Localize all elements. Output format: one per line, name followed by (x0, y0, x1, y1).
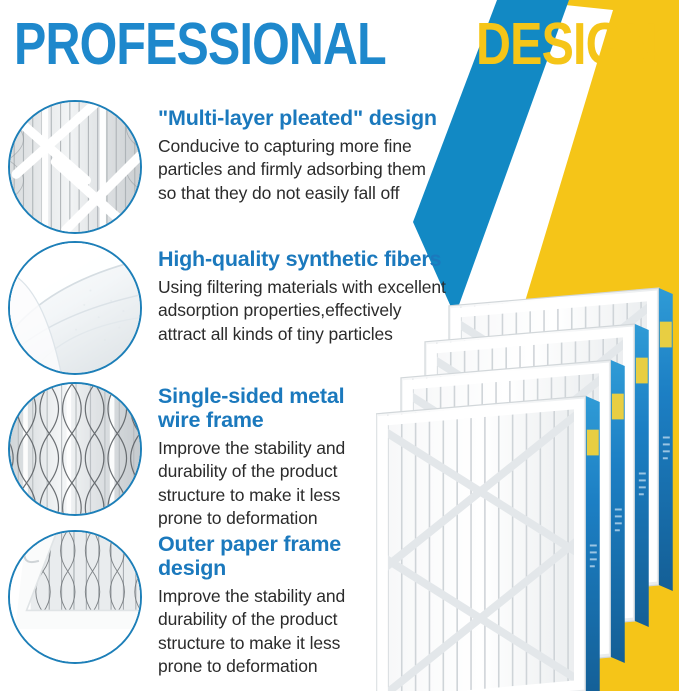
title-word-design: DESIGN (476, 15, 657, 74)
feature-text-block: Single-sided metal wire frame Improve th… (158, 382, 345, 530)
feature-body: Improve the stability and durability of … (158, 437, 345, 530)
feature-heading: "Multi-layer pleated" design (158, 106, 437, 130)
product-infographic-poster: PROFESSIONAL DESIGN (0, 0, 679, 691)
feature-body: Improve the stability and durability of … (158, 585, 345, 678)
feature-text-block: "Multi-layer pleated" design Conducive t… (158, 100, 437, 205)
metal-wire-mesh-thumbnail (8, 382, 142, 516)
synthetic-fiber-fabric-thumbnail (8, 241, 142, 375)
feature-row-outer-paper-frame: Outer paper frame design Improve the sta… (8, 530, 408, 678)
filter-panel-2 (401, 360, 625, 675)
pleated-media-closeup-thumbnail (8, 100, 142, 234)
title-word-professional: PROFESSIONAL (14, 15, 386, 74)
feature-heading: Single-sided metal wire frame (158, 384, 345, 432)
feature-heading: Outer paper frame design (158, 532, 345, 580)
feature-body: Using filtering materials with excellent… (158, 276, 446, 346)
yellow-bottom-block (469, 560, 679, 691)
feature-row-metal-wire-frame: Single-sided metal wire frame Improve th… (8, 382, 428, 530)
feature-text-block: Outer paper frame design Improve the sta… (158, 530, 345, 678)
paper-frame-corner-thumbnail (8, 530, 142, 664)
feature-row-multi-layer-pleated: "Multi-layer pleated" design Conducive t… (8, 100, 508, 234)
feature-heading: High-quality synthetic fibers (158, 247, 446, 271)
feature-row-synthetic-fibers: High-quality synthetic fibers Using filt… (8, 241, 508, 375)
page-title: PROFESSIONAL DESIGN (14, 8, 574, 80)
feature-body: Conducive to capturing more fine particl… (158, 135, 437, 205)
feature-text-block: High-quality synthetic fibers Using filt… (158, 241, 446, 346)
